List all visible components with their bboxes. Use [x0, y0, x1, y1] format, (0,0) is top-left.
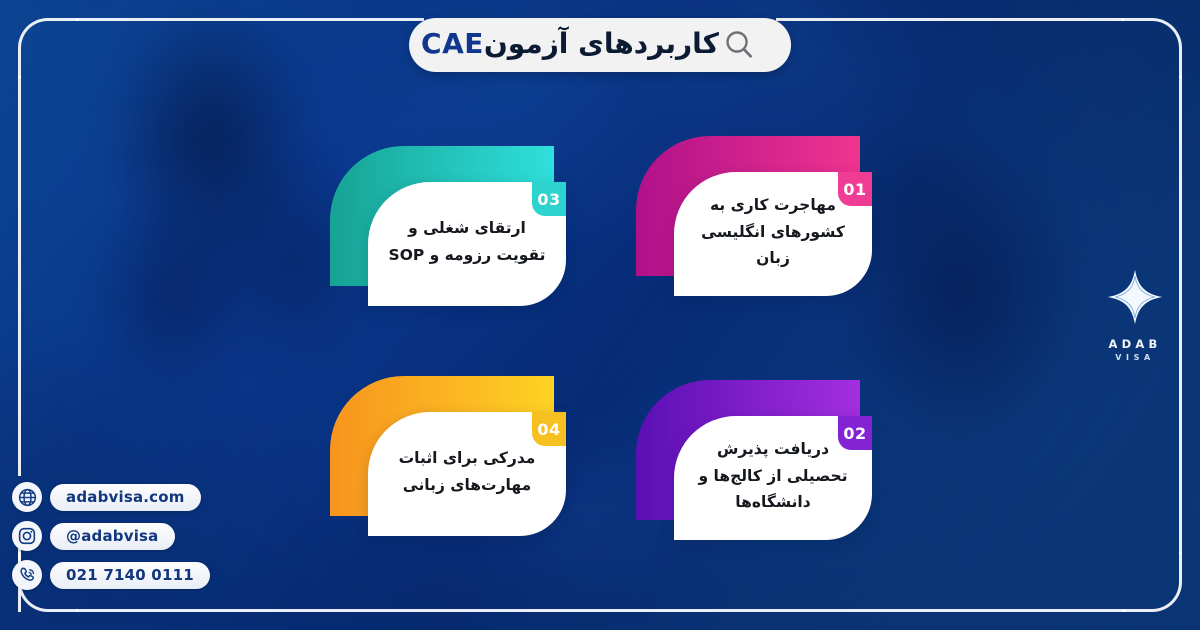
info-card-02[interactable]: دریافت پذیرش تحصیلی از کالج‌ها و دانشگاه… — [636, 380, 872, 540]
card-text: دریافت پذیرش تحصیلی از کالج‌ها و دانشگاه… — [674, 436, 872, 520]
contact-phone-label: 021 7140 0111 — [50, 562, 210, 589]
card-number-badge: 04 — [532, 412, 566, 446]
search-icon — [719, 25, 759, 65]
instagram-icon — [12, 521, 42, 551]
brand-name: ADAB — [1109, 337, 1162, 351]
card-number-badge: 02 — [838, 416, 872, 450]
infographic-canvas: کاربردهای آزمونCAE مهاجرت کاری به کشورها… — [0, 0, 1200, 630]
info-card-03[interactable]: ارتقای شغلی و تقویت رزومه و SOP 03 — [330, 146, 566, 306]
title-search-bar[interactable]: کاربردهای آزمونCAE — [409, 18, 791, 72]
page-title-fa: کاربردهای آزمون — [484, 27, 719, 60]
contact-instagram[interactable]: @adabvisa — [12, 521, 210, 551]
contact-website-label: adabvisa.com — [50, 484, 201, 511]
globe-icon — [12, 482, 42, 512]
brand-logo: ADAB VISA — [1092, 268, 1178, 362]
brand-subtitle: VISA — [1115, 353, 1155, 362]
card-text: مهاجرت کاری به کشورهای انگلیسی زبان — [674, 192, 872, 276]
card-number-badge: 01 — [838, 172, 872, 206]
contact-instagram-label: @adabvisa — [50, 523, 175, 550]
contact-website[interactable]: adabvisa.com — [12, 482, 210, 512]
card-number-badge: 03 — [532, 182, 566, 216]
contact-phone[interactable]: 021 7140 0111 — [12, 560, 210, 590]
card-text: ارتقای شغلی و تقویت رزومه و SOP — [368, 215, 566, 272]
page-title: کاربردهای آزمونCAE — [421, 27, 719, 63]
page-title-en: CAE — [421, 27, 484, 60]
card-text: مدرکی برای اثبات مهارت‌های زبانی — [368, 445, 566, 502]
phone-icon — [12, 560, 42, 590]
four-point-star-icon — [1106, 268, 1164, 330]
info-card-01[interactable]: مهاجرت کاری به کشورهای انگلیسی زبان 01 — [636, 136, 872, 296]
info-card-04[interactable]: مدرکی برای اثبات مهارت‌های زبانی 04 — [330, 376, 566, 536]
contact-list: adabvisa.com @adabvisa 021 7140 0111 — [12, 482, 210, 590]
